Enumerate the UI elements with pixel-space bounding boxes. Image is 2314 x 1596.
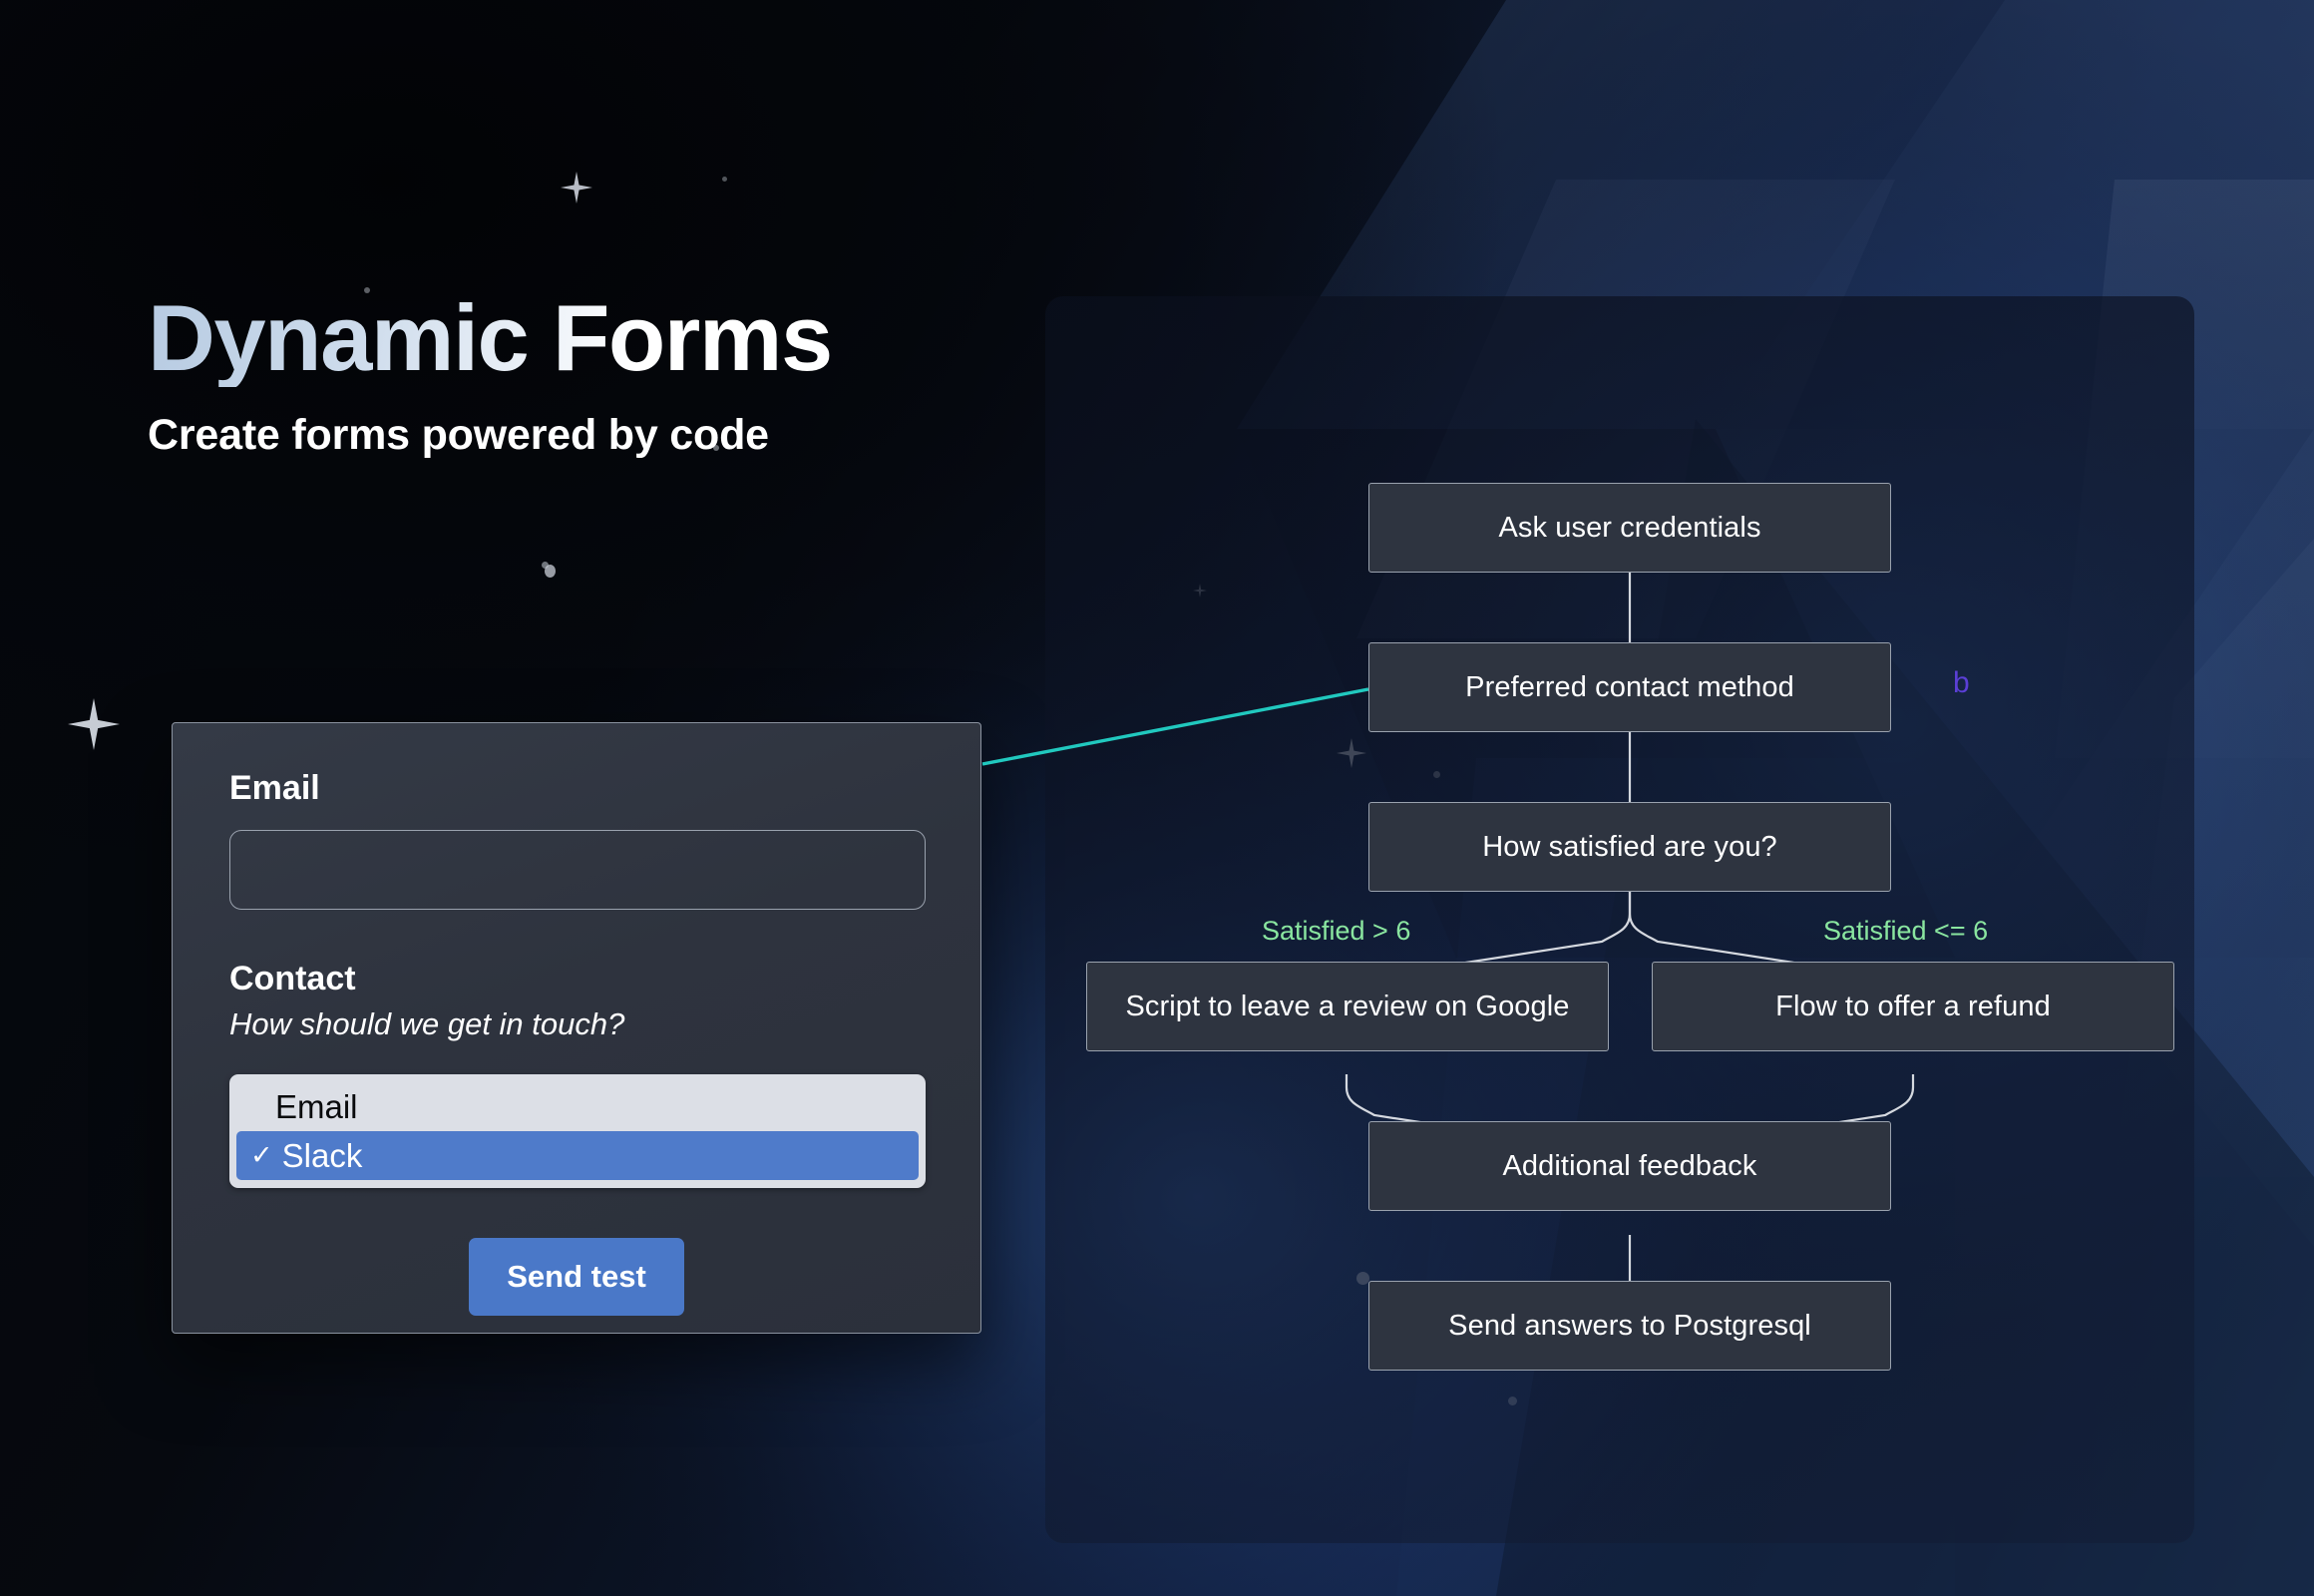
- contact-field-label: Contact: [229, 960, 924, 998]
- check-icon: ✓: [250, 1140, 273, 1171]
- flow-node-label: How satisfied are you?: [1482, 831, 1777, 864]
- flow-node-script-review-google[interactable]: Script to leave a review on Google: [1086, 962, 1609, 1051]
- particle-dot: [722, 177, 727, 182]
- flow-node-additional-feedback[interactable]: Additional feedback: [1368, 1121, 1891, 1211]
- page-subtitle: Create forms powered by code: [148, 411, 832, 460]
- flow-node-label: Send answers to Postgresql: [1448, 1310, 1811, 1343]
- send-test-button[interactable]: Send test: [469, 1238, 684, 1316]
- flow-node-how-satisfied-are-you[interactable]: How satisfied are you?: [1368, 802, 1891, 892]
- contact-method-select[interactable]: Email ✓ Slack: [229, 1074, 926, 1188]
- form-preview-card: Email Contact How should we get in touch…: [172, 722, 981, 1334]
- branch-label-satisfied-low: Satisfied <= 6: [1823, 916, 1988, 947]
- flow-node-flow-offer-refund[interactable]: Flow to offer a refund: [1652, 962, 2174, 1051]
- select-option-label: Email: [275, 1088, 358, 1126]
- decoration-glyph-b: b: [1953, 666, 1970, 700]
- select-option-email[interactable]: Email: [236, 1082, 919, 1131]
- particle-dot: [545, 565, 556, 578]
- flow-node-send-answers-postgresql[interactable]: Send answers to Postgresql: [1368, 1281, 1891, 1371]
- hero-section: Dynamic Forms Create forms powered by co…: [148, 289, 832, 460]
- contact-field-group: Contact How should we get in touch? Emai…: [229, 960, 924, 1188]
- select-option-slack[interactable]: ✓ Slack: [236, 1131, 919, 1180]
- page-title: Dynamic Forms: [148, 289, 832, 387]
- flow-node-label: Ask user credentials: [1498, 512, 1760, 545]
- screen-root: Dynamic Forms Create forms powered by co…: [0, 0, 2314, 1596]
- contact-help-text: How should we get in touch?: [229, 1006, 924, 1042]
- email-field-label: Email: [229, 769, 924, 808]
- flow-node-label: Flow to offer a refund: [1775, 991, 2051, 1023]
- flow-node-label: Script to leave a review on Google: [1125, 991, 1569, 1023]
- flow-node-label: Preferred contact method: [1465, 671, 1794, 704]
- select-option-label: Slack: [282, 1137, 363, 1175]
- flow-node-ask-user-credentials[interactable]: Ask user credentials: [1368, 483, 1891, 573]
- flow-node-label: Additional feedback: [1502, 1150, 1756, 1183]
- flow-node-preferred-contact-method[interactable]: Preferred contact method: [1368, 642, 1891, 732]
- branch-label-satisfied-high: Satisfied > 6: [1262, 916, 1410, 947]
- email-input[interactable]: [229, 830, 926, 910]
